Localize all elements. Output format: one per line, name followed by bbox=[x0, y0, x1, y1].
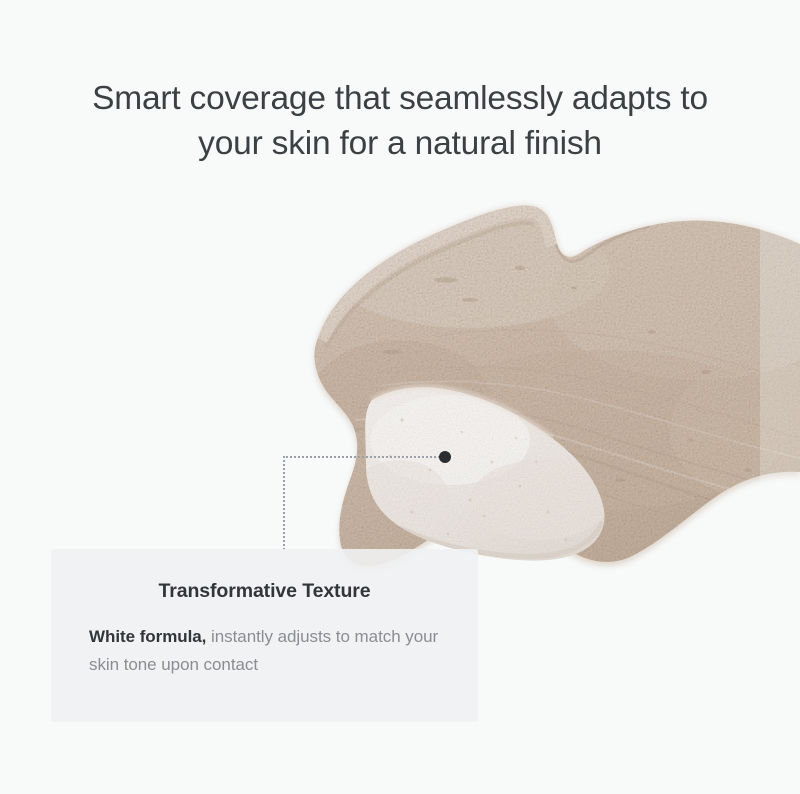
info-card-body-lead: White formula, bbox=[89, 627, 206, 646]
info-card-body: White formula, instantly adjusts to matc… bbox=[89, 623, 449, 679]
marketing-slide: Smart coverage that seamlessly adapts to… bbox=[0, 0, 800, 794]
info-card: Transformative Texture White formula, in… bbox=[51, 549, 478, 722]
callout-leader-horizontal bbox=[283, 456, 443, 458]
callout-leader-vertical bbox=[283, 456, 285, 550]
info-card-title: Transformative Texture bbox=[51, 580, 478, 603]
white-formula-marker-dot bbox=[439, 451, 451, 463]
